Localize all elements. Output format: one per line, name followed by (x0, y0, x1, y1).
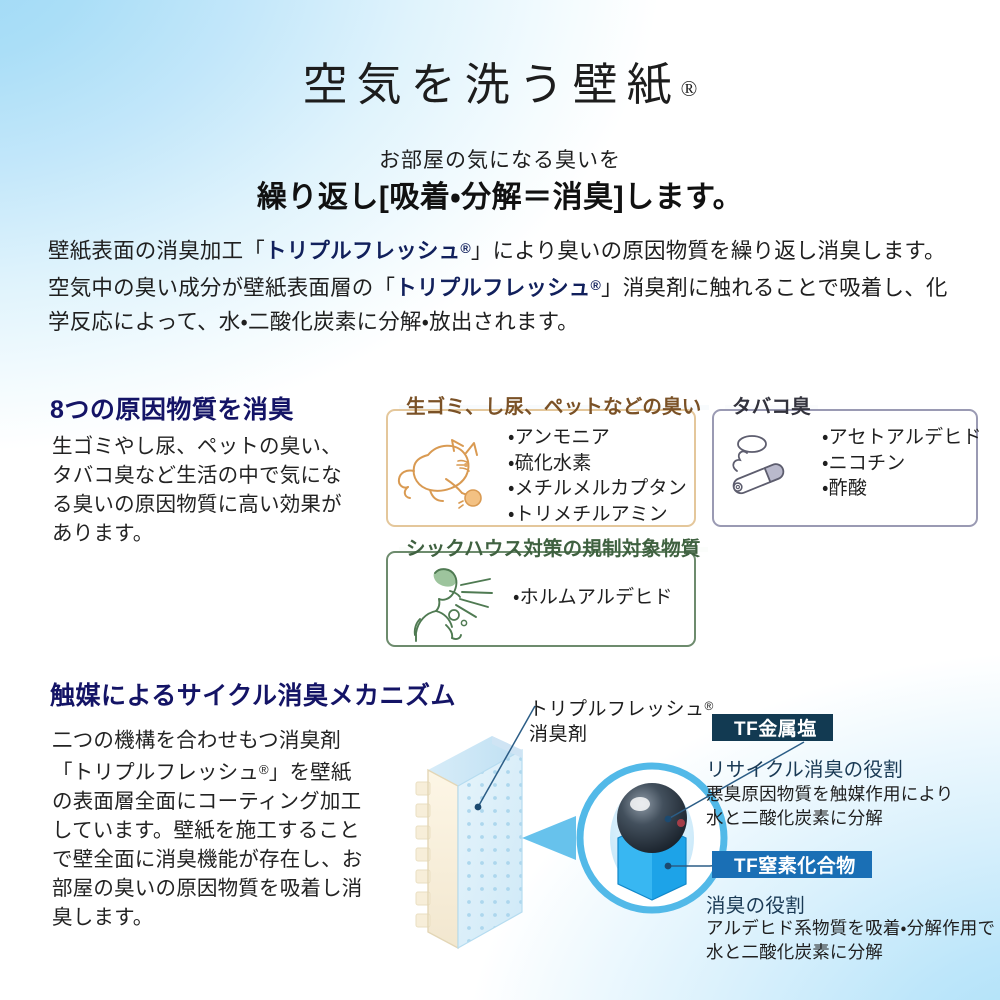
diagram-callout-line-1: トリプルフレッシュ (529, 699, 705, 720)
registered-mark-icon: ® (681, 76, 698, 101)
section-body-mechanism-part-2: 」を壁紙の表面層全面にコーティング加工しています。壁紙を施工することで壁全面に消… (52, 761, 363, 929)
odor-box-sickhouse-title: シックハウス対策の規制対象物質 (399, 539, 708, 559)
odor-box-tobacco-title: タバコ臭 (725, 397, 818, 417)
role-tf-nitrogen-compound: 消臭の役割 (706, 889, 805, 918)
list-item: ・酢酸 (822, 476, 982, 502)
odor-box-garbage-title: 生ゴミ、し尿、ペットなどの臭い (399, 397, 709, 417)
detail-tf-metal-salt: 悪臭原因物質を触媒作用により 水と二酸化炭素に分解 (706, 782, 953, 830)
odor-box-garbage: 生ゴミ、し尿、ペットなどの臭い ・アンモニア ・硫 (386, 409, 696, 527)
detail-line: アルデヒド系物質を吸着・分解作用で (706, 916, 995, 940)
cigarette-icon (724, 431, 806, 503)
diagram-callout-line-2: 消臭剤 (529, 724, 588, 745)
registered-mark-icon: ® (460, 240, 471, 256)
section-heading-mechanism: 触媒によるサイクル消臭メカニズム (50, 676, 456, 712)
list-item: ・ニコチン (822, 451, 982, 477)
mechanism-diagram: トリプルフレッシュ® 消臭剤 TF金属塩 リサイクル消臭の役割 悪臭原因物質を触… (400, 690, 1000, 990)
detail-line: 悪臭原因物質を触媒作用により (706, 782, 953, 806)
lead-subtitle: お部屋の気になる臭いを (0, 144, 1000, 174)
brand-name-2-text: トリプルフレッシュ (395, 276, 590, 300)
intro-text-part-1: 壁紙表面の消臭加工「 (48, 239, 265, 263)
coughing-person-icon (406, 563, 498, 643)
brand-name-1: トリプルフレッシュ® (265, 239, 471, 263)
badge-tf-metal-salt: TF金属塩 (712, 714, 833, 741)
detail-tf-nitrogen-compound: アルデヒド系物質を吸着・分解作用で 水と二酸化炭素に分解 (706, 916, 995, 964)
list-item: ・アセトアルデヒド (822, 425, 982, 451)
lead-headline: 繰り返し[吸着・分解＝消臭]します。 (0, 172, 1000, 216)
detail-line: 水と二酸化炭素に分解 (706, 940, 995, 964)
section-heading-odors: 8つの原因物質を消臭 (50, 390, 294, 426)
registered-mark-icon: ® (705, 699, 714, 713)
cat-icon (394, 435, 498, 517)
odor-box-garbage-list: ・アンモニア ・硫化水素 ・メチルメルカプタン ・トリメチルアミン (508, 425, 687, 527)
intro-paragraph: 壁紙表面の消臭加工「トリプルフレッシュ®」により臭いの原因物質を繰り返し消臭しま… (48, 231, 952, 339)
diagram-callout-triplefresh: トリプルフレッシュ® 消臭剤 (529, 694, 714, 747)
list-item: ・硫化水素 (508, 451, 687, 477)
odor-box-tobacco: タバコ臭 ・アセトアルデヒド ・ニコチン ・酢酸 (712, 409, 978, 527)
list-item: ・ホルムアルデヒド (513, 585, 673, 611)
section-body-odors: 生ゴミやし尿、ペットの臭い、タバコ臭など生活の中で気になる臭いの原因物質に高い効… (52, 432, 352, 548)
infographic-page: 空気を洗う壁紙® お部屋の気になる臭いを 繰り返し[吸着・分解＝消臭]します。 … (0, 0, 1000, 1000)
brand-name-2: トリプルフレッシュ® (395, 276, 601, 300)
odor-box-sickhouse-list: ・ホルムアルデヒド (513, 585, 673, 611)
brand-title: 空気を洗う壁紙® (0, 48, 1000, 113)
detail-line: 水と二酸化炭素に分解 (706, 806, 953, 830)
brand-title-text: 空気を洗う壁紙 (303, 60, 681, 110)
badge-tf-nitrogen-compound: TF窒素化合物 (712, 851, 872, 878)
odor-box-tobacco-list: ・アセトアルデヒド ・ニコチン ・酢酸 (822, 425, 982, 502)
section-body-mechanism: 二つの機構を合わせもつ消臭剤「トリプルフレッシュ®」を壁紙の表面層全面にコーティ… (52, 726, 364, 932)
registered-mark-icon: ® (259, 762, 269, 777)
brand-name-1-text: トリプルフレッシュ (265, 239, 460, 263)
list-item: ・アンモニア (508, 425, 687, 451)
role-tf-metal-salt: リサイクル消臭の役割 (706, 753, 903, 782)
registered-mark-icon: ® (591, 277, 602, 293)
list-item: ・メチルメルカプタン (508, 476, 687, 502)
odor-box-sickhouse: シックハウス対策の規制対象物質 ・ホルムアル (386, 551, 696, 647)
list-item: ・トリメチルアミン (508, 502, 687, 528)
